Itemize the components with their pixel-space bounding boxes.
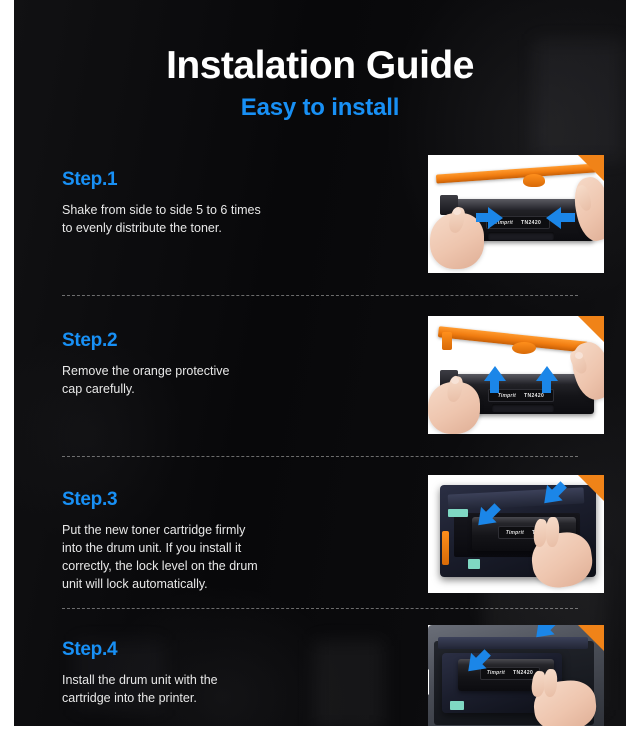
lift-arrow-left-stem bbox=[490, 379, 499, 393]
left-hand-nail bbox=[451, 377, 459, 384]
printer-top-rail bbox=[438, 637, 588, 649]
step-divider-1 bbox=[62, 295, 578, 296]
photo-notch-icon bbox=[428, 199, 429, 225]
cartridge-brand-text: Timprit bbox=[498, 393, 516, 399]
drum-unit-green-lock bbox=[468, 559, 480, 569]
orange-cap-knob bbox=[512, 342, 536, 354]
step-description-1: Shake from side to side 5 to 6 times to … bbox=[62, 201, 362, 237]
step-image-2: Timprit TN2420 bbox=[428, 316, 604, 434]
step-item-4: Step.4 Install the drum unit with the ca… bbox=[14, 625, 626, 727]
photo-notch-icon bbox=[428, 360, 429, 386]
lift-arrow-right-stem bbox=[542, 379, 551, 393]
step-text-block-3: Step.3 Put the new toner cartridge firml… bbox=[62, 475, 362, 594]
orange-protective-strip bbox=[436, 163, 596, 183]
orange-corner-accent bbox=[578, 625, 604, 651]
orange-corner-accent bbox=[578, 316, 604, 342]
cartridge-model-text: TN2420 bbox=[513, 670, 533, 676]
step-text-block-1: Step.1 Shake from side to side 5 to 6 ti… bbox=[62, 155, 362, 237]
orange-strip-tab bbox=[523, 174, 545, 187]
cartridge-model-text: TN2420 bbox=[524, 393, 544, 399]
orange-cap-end bbox=[442, 332, 452, 350]
step-description-2: Remove the orange protective cap careful… bbox=[62, 362, 362, 398]
step-item-3: Step.3 Put the new toner cartridge firml… bbox=[14, 475, 626, 594]
shake-arrow-right-stem bbox=[476, 213, 490, 222]
page-title: Instalation Guide bbox=[14, 46, 626, 87]
step-divider-2 bbox=[62, 456, 578, 457]
cartridge-brand-text: Timprit bbox=[506, 530, 524, 536]
cartridge-top-surface bbox=[448, 199, 594, 210]
step-text-block-4: Step.4 Install the drum unit with the ca… bbox=[62, 625, 362, 707]
orange-corner-accent bbox=[578, 155, 604, 181]
page-header: Instalation Guide Easy to install bbox=[14, 46, 626, 122]
step-text-block-2: Step.2 Remove the orange protective cap … bbox=[62, 316, 362, 398]
steps-list: Step.1 Shake from side to side 5 to 6 ti… bbox=[14, 155, 626, 726]
cartridge-slot bbox=[492, 404, 554, 412]
poster-dark-panel: Instalation Guide Easy to install Step.1… bbox=[14, 0, 626, 726]
step-label-2: Step.2 bbox=[62, 330, 362, 352]
right-hand-nail bbox=[575, 352, 583, 359]
step-item-2: Step.2 Remove the orange protective cap … bbox=[14, 316, 626, 434]
step-description-3: Put the new toner cartridge firmly into … bbox=[62, 521, 362, 594]
drum-unit-orange-edge bbox=[442, 531, 449, 565]
step-label-4: Step.4 bbox=[62, 639, 362, 661]
cartridge-brand-text: Timprit bbox=[487, 670, 505, 676]
page-subtitle: Easy to install bbox=[14, 94, 626, 122]
step-image-1: Timprit TN2420 bbox=[428, 155, 604, 273]
step-label-3: Step.3 bbox=[62, 489, 362, 511]
step-item-1: Step.1 Shake from side to side 5 to 6 ti… bbox=[14, 155, 626, 273]
cartridge-top-surface bbox=[448, 374, 594, 384]
shake-arrow-left-stem bbox=[561, 213, 575, 222]
step-divider-3 bbox=[62, 608, 578, 609]
drum-unit-green-lever bbox=[450, 701, 464, 710]
step-description-4: Install the drum unit with the cartridge… bbox=[62, 671, 362, 707]
drum-unit-green-lever bbox=[448, 509, 468, 517]
installation-guide-page: Instalation Guide Easy to install Step.1… bbox=[0, 0, 644, 743]
step-image-3: Timprit TN2420 bbox=[428, 475, 604, 593]
left-hand-nail bbox=[453, 208, 461, 215]
shake-arrow-left-icon bbox=[546, 207, 561, 229]
photo-notch-icon bbox=[428, 669, 429, 695]
orange-corner-accent bbox=[578, 475, 604, 501]
cartridge-label: Timprit TN2420 bbox=[480, 667, 540, 680]
photo-notch-icon bbox=[428, 519, 429, 545]
step-label-1: Step.1 bbox=[62, 169, 362, 191]
shake-arrow-right-icon bbox=[488, 207, 503, 229]
cartridge-slot bbox=[488, 232, 554, 240]
cartridge-model-text: TN2420 bbox=[521, 220, 541, 226]
step-image-4: Timprit TN2420 bbox=[428, 625, 604, 727]
